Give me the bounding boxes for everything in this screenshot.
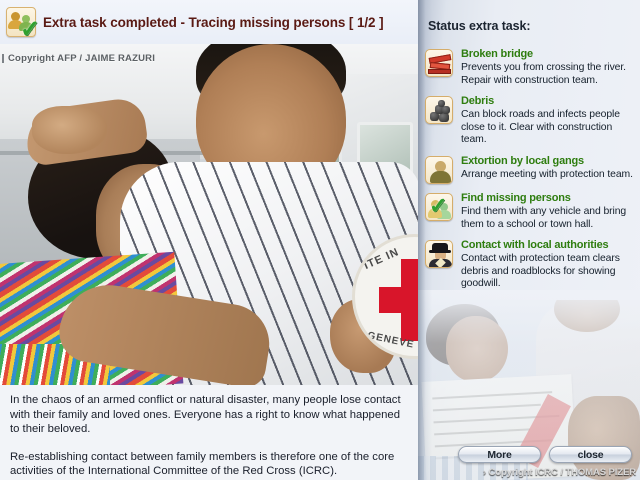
status-panel-title: Status extra task: (428, 19, 530, 33)
photo-hand (32, 106, 107, 154)
credit-tick (2, 54, 4, 63)
task-description: Arrange meeting with protection team. (461, 169, 633, 182)
game-screen: ✓ Extra task completed - Tracing missing… (0, 0, 640, 480)
task-item-contact-authorities[interactable]: Contact with local authorities Contact w… (418, 239, 640, 291)
task-text: Broken bridge Prevents you from crossing… (461, 48, 634, 87)
task-description: Prevents you from crossing the river. Re… (461, 62, 634, 87)
broken-bridge-icon (425, 49, 453, 77)
debris-icon (425, 96, 453, 124)
gang-member-icon (425, 156, 453, 184)
left-panel: ✓ Extra task completed - Tracing missing… (0, 0, 418, 480)
panel-credit: › Copyright ICRC / THOMAS PIZER (483, 467, 636, 478)
find-persons-check-icon: ✓ (425, 193, 453, 221)
credit-arrow-icon: › (483, 467, 486, 478)
task-title: Broken bridge (461, 48, 634, 61)
task-item-extortion[interactable]: Extortion by local gangs Arrange meeting… (418, 155, 640, 184)
task-text: Extortion by local gangs Arrange meeting… (461, 155, 633, 184)
task-item-find-missing-persons[interactable]: ✓ Find missing persons Find them with an… (418, 192, 640, 231)
task-item-broken-bridge[interactable]: Broken bridge Prevents you from crossing… (418, 48, 640, 87)
description-panel: In the chaos of an armed conflict or nat… (0, 385, 418, 480)
status-panel: Status extra task: Broken bridge Prevent… (418, 0, 640, 480)
local-authority-icon (425, 240, 453, 268)
more-button[interactable]: More (458, 446, 541, 463)
close-button[interactable]: close (549, 446, 632, 463)
credit-text: Copyright ICRC / THOMAS PIZER (488, 467, 636, 478)
check-mark-icon: ✓ (429, 195, 447, 217)
task-title: Extortion by local gangs (461, 155, 633, 168)
page-title: Extra task completed - Tracing missing p… (43, 15, 383, 30)
title-bar: ✓ Extra task completed - Tracing missing… (0, 0, 418, 44)
main-photo: ITE IN GENEVE (0, 44, 418, 385)
description-paragraph-1: In the chaos of an armed conflict or nat… (10, 393, 404, 437)
task-title: Find missing persons (461, 192, 634, 205)
task-item-debris[interactable]: Debris Can block roads and infects peopl… (418, 95, 640, 147)
photo-credit: Copyright AFP / JAIME RAZURI (8, 53, 155, 64)
task-description: Find them with any vehicle and bring the… (461, 206, 634, 231)
task-title: Contact with local authorities (461, 239, 634, 252)
people-check-icon: ✓ (6, 7, 36, 37)
task-text: Find missing persons Find them with any … (461, 192, 634, 231)
task-description: Contact with protection team clears debr… (461, 253, 634, 291)
task-list: Broken bridge Prevents you from crossing… (418, 48, 640, 299)
check-mark-icon: ✓ (20, 18, 40, 42)
task-text: Debris Can block roads and infects peopl… (461, 95, 634, 147)
task-text: Contact with local authorities Contact w… (461, 239, 634, 291)
description-paragraph-2: Re-establishing contact between family m… (10, 450, 404, 479)
task-title: Debris (461, 95, 634, 108)
task-description: Can block roads and infects people close… (461, 109, 634, 147)
red-cross-horizontal (379, 287, 418, 313)
button-row: More close (418, 446, 640, 466)
